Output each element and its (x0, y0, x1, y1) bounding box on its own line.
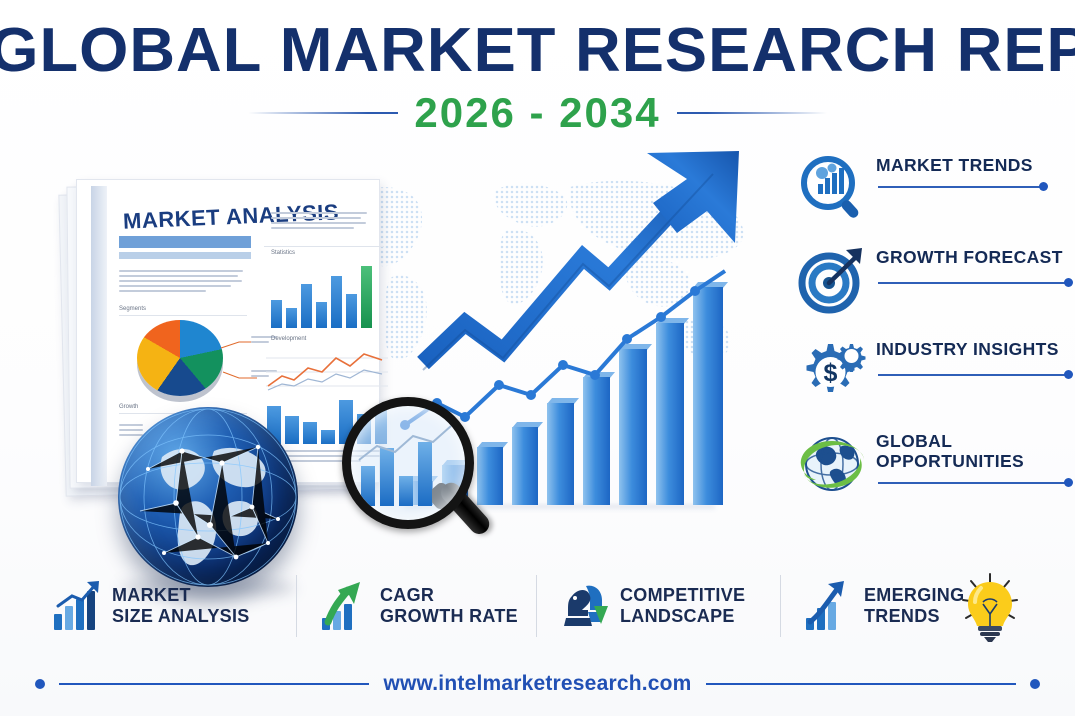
subtitle-row: 2026 - 2034 (0, 89, 1075, 137)
sidebar-dot-4 (1064, 478, 1073, 487)
highlights-sidebar: MARKET TRENDS GROWTH FORECAST (788, 150, 1068, 522)
feature-cagr-growth-rate[interactable]: CAGR GROWTH RATE (320, 565, 518, 647)
feature-label-market-size-analysis: MARKET SIZE ANALYSIS (112, 585, 250, 626)
feature-market-size-analysis[interactable]: MARKET SIZE ANALYSIS (52, 565, 250, 647)
gear-dollar-icon: $ (798, 338, 866, 406)
report-section-label-statistics: Statistics (271, 250, 295, 256)
segments-pie-chart (137, 320, 223, 396)
feature-emerging-trends[interactable]: EMERGING TRENDS (804, 565, 964, 647)
sidebar-label-global-opportunities: GLOBAL OPPORTUNITIES (876, 432, 1066, 471)
header: GLOBAL MARKET RESEARCH REPORT 2026 - 203… (0, 18, 1075, 137)
page-title: GLOBAL MARKET RESEARCH REPORT (0, 18, 1075, 83)
svg-text:$: $ (824, 359, 838, 387)
sidebar-dot-1 (1039, 182, 1048, 191)
lightbulb-icon (957, 570, 1023, 642)
sidebar-dot-2 (1064, 278, 1073, 287)
feature-line2: LANDSCAPE (620, 606, 745, 627)
sidebar-item-global-opportunities[interactable]: GLOBAL OPPORTUNITIES (788, 426, 1068, 522)
magnifying-glass-icon (342, 397, 492, 552)
feature-line1: COMPETITIVE (620, 585, 745, 606)
report-divider-1 (119, 315, 247, 316)
feature-line1: EMERGING (864, 585, 964, 606)
development-line-chart (266, 346, 388, 392)
report-divider-3 (264, 246, 384, 247)
sidebar-label-market-trends: MARKET TRENDS (876, 156, 1066, 176)
feature-line1: MARKET (112, 585, 250, 606)
footer: www.intelmarketresearch.com (0, 664, 1075, 704)
sidebar-rule-2 (878, 282, 1068, 284)
sidebar-label-growth-forecast: GROWTH FORECAST (876, 248, 1066, 268)
footer-rule-right (706, 683, 1016, 685)
bar-growth-arrow-icon (52, 580, 102, 632)
report-section-label-segments: Segments (119, 306, 146, 312)
footer-rule-left (59, 683, 369, 685)
sidebar-item-market-trends[interactable]: MARKET TRENDS (788, 150, 1068, 230)
magnifier-lens (342, 397, 474, 529)
feature-label-emerging-trends: EMERGING TRENDS (864, 585, 964, 626)
sidebar-item-industry-insights[interactable]: $ INDUSTRY INSIGHTS (788, 334, 1068, 414)
feature-competitive-landscape[interactable]: COMPETITIVE LANDSCAPE (560, 565, 745, 647)
target-arrow-icon (798, 246, 866, 314)
feature-separator-2 (536, 575, 537, 637)
blue-trend-arrow-icon (804, 580, 854, 632)
report-accent-bar (119, 236, 251, 248)
subtitle-rule-right (677, 112, 827, 114)
feature-line2: TRENDS (864, 606, 964, 627)
feature-label-competitive-landscape: COMPETITIVE LANDSCAPE (620, 585, 745, 626)
report-top-note (271, 212, 367, 232)
feature-line2: GROWTH RATE (380, 606, 518, 627)
footer-dot-left (35, 679, 45, 689)
footer-dot-right (1030, 679, 1040, 689)
sidebar-dot-3 (1064, 370, 1073, 379)
globe-orbit-icon (798, 430, 866, 498)
feature-label-cagr-growth-rate: CAGR GROWTH RATE (380, 585, 518, 626)
sidebar-label-global-opportunities-text: GLOBAL OPPORTUNITIES (876, 431, 1024, 471)
subtitle-rule-left (248, 112, 398, 114)
feature-line1: CAGR (380, 585, 518, 606)
sidebar-rule-4 (878, 482, 1068, 484)
green-growth-arrow-icon (320, 580, 370, 632)
globe-detail (118, 407, 298, 587)
sidebar-rule-1 (878, 186, 1043, 188)
statistics-bar-chart (269, 262, 387, 328)
sidebar-rule-3 (878, 374, 1068, 376)
infographic-canvas: GLOBAL MARKET RESEARCH REPORT 2026 - 203… (0, 0, 1075, 716)
network-globe-icon (118, 407, 298, 587)
feature-separator-1 (296, 575, 297, 637)
sidebar-label-industry-insights: INDUSTRY INSIGHTS (876, 340, 1066, 360)
feature-separator-3 (780, 575, 781, 637)
chess-pieces-icon (560, 580, 610, 632)
report-section-label-development: Development (271, 336, 306, 342)
hero-artwork: MARKET ANALYSIS Segments (0, 145, 790, 545)
feature-line2: SIZE ANALYSIS (112, 606, 250, 627)
footer-url[interactable]: www.intelmarketresearch.com (383, 672, 691, 696)
report-accent-bar-2 (119, 252, 251, 259)
feature-row: MARKET SIZE ANALYSIS CAGR GROWT (52, 565, 1027, 647)
magnifier-chart-icon (798, 154, 866, 222)
sidebar-item-growth-forecast[interactable]: GROWTH FORECAST (788, 242, 1068, 322)
subtitle-years: 2026 - 2034 (414, 89, 660, 137)
report-body-text (119, 270, 243, 295)
